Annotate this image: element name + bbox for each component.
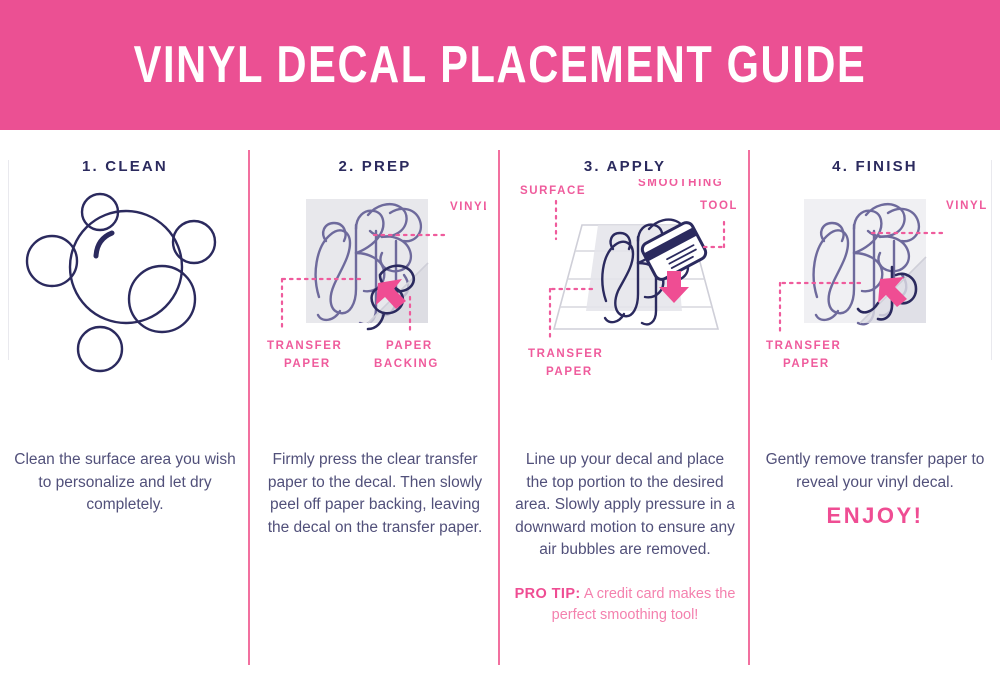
bubbles-icon xyxy=(27,194,215,371)
bubble-overlap xyxy=(129,266,195,332)
step-column-prep: 2. PREP xyxy=(250,130,500,680)
bubble-right-small xyxy=(173,221,215,263)
vinyl-label-text: VINYL xyxy=(450,201,486,213)
step-body-finish: Gently remove transfer paper to reveal y… xyxy=(764,449,986,494)
paper-backing-label-line2: BACKING xyxy=(374,358,439,370)
transfer-paper-label-line2: PAPER xyxy=(284,358,331,370)
illustration-finish: VINYL TRANSFER PAPER xyxy=(764,179,986,447)
step-title-apply: 3. APPLY xyxy=(584,158,666,175)
step-body-apply: Line up your decal and place the top por… xyxy=(514,449,736,562)
illustration-apply: SURFACE SMOOTHING TOOL TRANSFER PAPER xyxy=(514,179,736,447)
step-column-apply: 3. APPLY xyxy=(500,130,750,680)
step-column-clean: 1. CLEAN Clean the surface area you wish… xyxy=(0,130,250,680)
illustration-bubbles xyxy=(14,179,236,447)
step-body-clean: Clean the surface area you wish to perso… xyxy=(14,449,236,517)
transfer-paper-label-line2: PAPER xyxy=(783,358,830,370)
bubble-bottom-small xyxy=(78,327,122,371)
transfer-paper-label-line1: TRANSFER xyxy=(528,348,603,360)
smoothing-tool-label-line1: SMOOTHING xyxy=(638,179,723,189)
pro-tip-lead: PRO TIP: xyxy=(515,586,581,602)
surface-label-text: SURFACE xyxy=(520,185,586,197)
pro-tip: PRO TIP: A credit card makes the perfect… xyxy=(514,584,736,626)
smoothing-tool-label-line2: TOOL xyxy=(700,200,736,212)
steps-container: 1. CLEAN Clean the surface area you wish… xyxy=(0,130,1000,680)
infographic-page: VINYL DECAL PLACEMENT GUIDE 1. CLEAN xyxy=(0,0,1000,680)
step-title-finish: 4. FINISH xyxy=(832,158,918,175)
step-title-prep: 2. PREP xyxy=(339,158,412,175)
header-banner: VINYL DECAL PLACEMENT GUIDE xyxy=(0,0,1000,130)
step-column-finish: 4. FINISH xyxy=(750,130,1000,680)
smoothing-tool-leader-line xyxy=(704,219,724,247)
paper-backing-label-line1: PAPER xyxy=(386,340,433,352)
illustration-prep: VINYL TRANSFER PAPER PAPER BACKING xyxy=(264,179,486,447)
enjoy-text: ENJOY! xyxy=(827,503,924,529)
step-title-clean: 1. CLEAN xyxy=(82,158,168,175)
vinyl-label-text: VINYL xyxy=(946,200,986,212)
transfer-paper-label-line1: TRANSFER xyxy=(267,340,342,352)
page-title: VINYL DECAL PLACEMENT GUIDE xyxy=(134,39,867,91)
step-body-prep: Firmly press the clear transfer paper to… xyxy=(264,449,486,539)
transfer-paper-label-line2: PAPER xyxy=(546,366,593,378)
bubble-highlight-arc xyxy=(96,233,112,256)
transfer-paper-label-line1: TRANSFER xyxy=(766,340,841,352)
